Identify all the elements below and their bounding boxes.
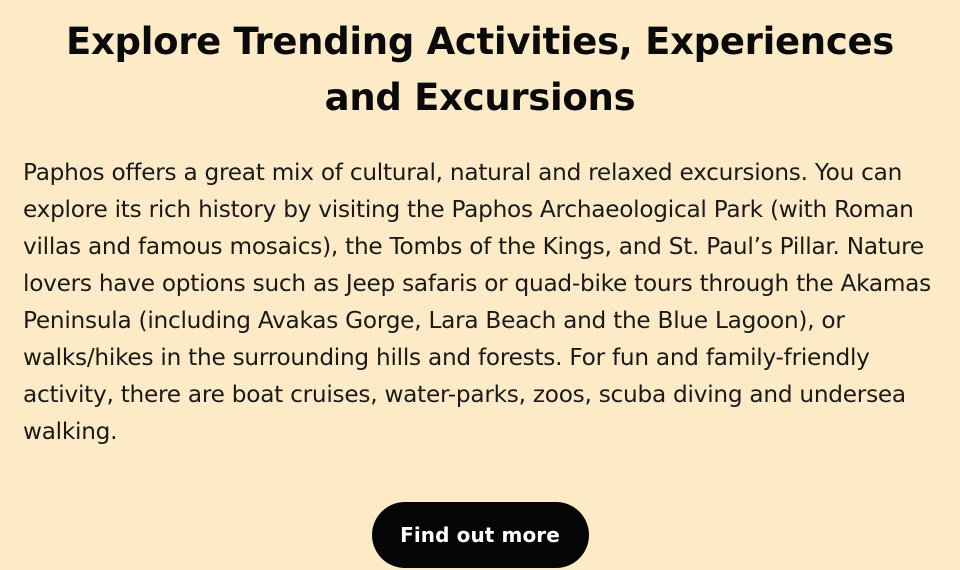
find-out-more-button[interactable]: Find out more bbox=[372, 502, 589, 568]
promo-card: Explore Trending Activities, Experiences… bbox=[0, 0, 960, 570]
cta-container: Find out more bbox=[0, 502, 960, 570]
page-title: Explore Trending Activities, Experiences… bbox=[0, 0, 960, 126]
promo-description: Paphos offers a great mix of cultural, n… bbox=[0, 126, 960, 450]
